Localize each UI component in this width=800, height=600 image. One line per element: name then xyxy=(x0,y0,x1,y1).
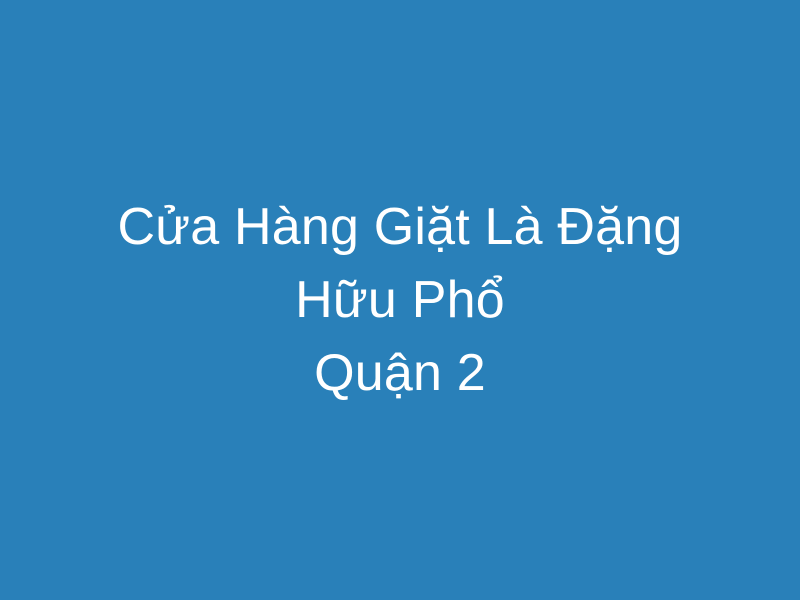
banner-title-line-2: Quận 2 xyxy=(70,337,730,410)
banner-title-line-1: Cửa Hàng Giặt Là Đặng Hữu Phổ xyxy=(70,191,730,337)
banner-title-block: Cửa Hàng Giặt Là Đặng Hữu Phổ Quận 2 xyxy=(50,191,750,410)
placeholder-banner: Cửa Hàng Giặt Là Đặng Hữu Phổ Quận 2 xyxy=(0,0,800,600)
